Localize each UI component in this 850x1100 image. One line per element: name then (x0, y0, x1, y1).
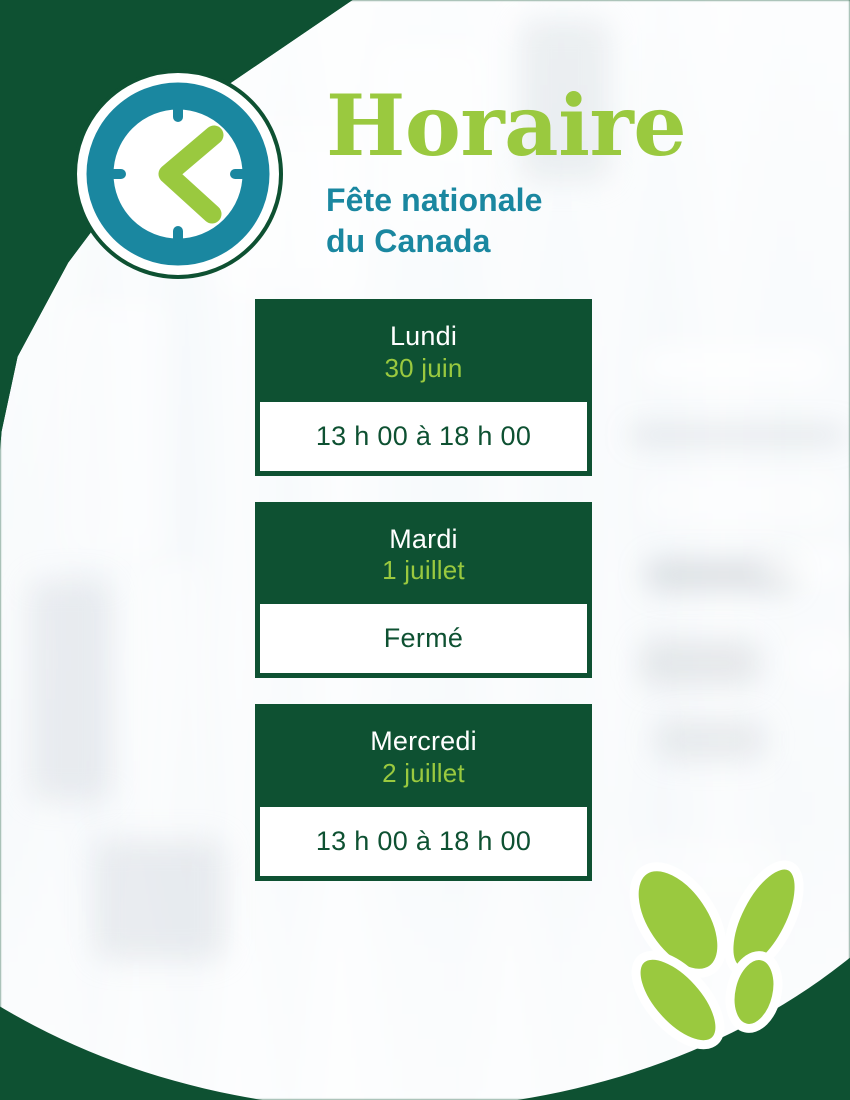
schedule-day-date: 30 juin (265, 353, 582, 385)
photo-blob (640, 475, 840, 525)
schedule-card-header: Lundi 30 juin (255, 299, 592, 402)
schedule-poster: Horaire Fête nationale du Canada Lundi 3… (0, 0, 850, 1100)
schedule-card-header: Mercredi 2 juillet (255, 704, 592, 807)
schedule-day-name: Lundi (265, 321, 582, 353)
page-subtitle-line-2: du Canada (326, 221, 746, 262)
photo-blob (630, 430, 845, 440)
schedule-day-date: 1 juillet (265, 555, 582, 587)
schedule-card-header: Mardi 1 juillet (255, 502, 592, 605)
schedule-card: Lundi 30 juin 13 h 00 à 18 h 00 (255, 299, 592, 476)
page-subtitle-line-1: Fête nationale (326, 180, 746, 221)
photo-blob (640, 345, 830, 385)
schedule-day-date: 2 juillet (265, 758, 582, 790)
schedule-list: Lundi 30 juin 13 h 00 à 18 h 00 Mardi 1 … (255, 299, 592, 907)
photo-blob (60, 300, 170, 560)
poster-header: Horaire Fête nationale du Canada (326, 86, 746, 262)
schedule-day-name: Mercredi (265, 726, 582, 758)
clock-icon (72, 68, 284, 280)
butterfly-logo-icon (616, 850, 831, 1065)
schedule-card: Mardi 1 juillet Fermé (255, 502, 592, 679)
schedule-day-name: Mardi (265, 524, 582, 556)
page-subtitle: Fête nationale du Canada (326, 180, 746, 262)
photo-blob (760, 545, 850, 585)
schedule-card: Mercredi 2 juillet 13 h 00 à 18 h 00 (255, 704, 592, 881)
schedule-day-hours: 13 h 00 à 18 h 00 (260, 402, 587, 471)
page-title: Horaire (326, 86, 746, 166)
schedule-day-hours: Fermé (260, 604, 587, 673)
schedule-day-hours: 13 h 00 à 18 h 00 (260, 807, 587, 876)
